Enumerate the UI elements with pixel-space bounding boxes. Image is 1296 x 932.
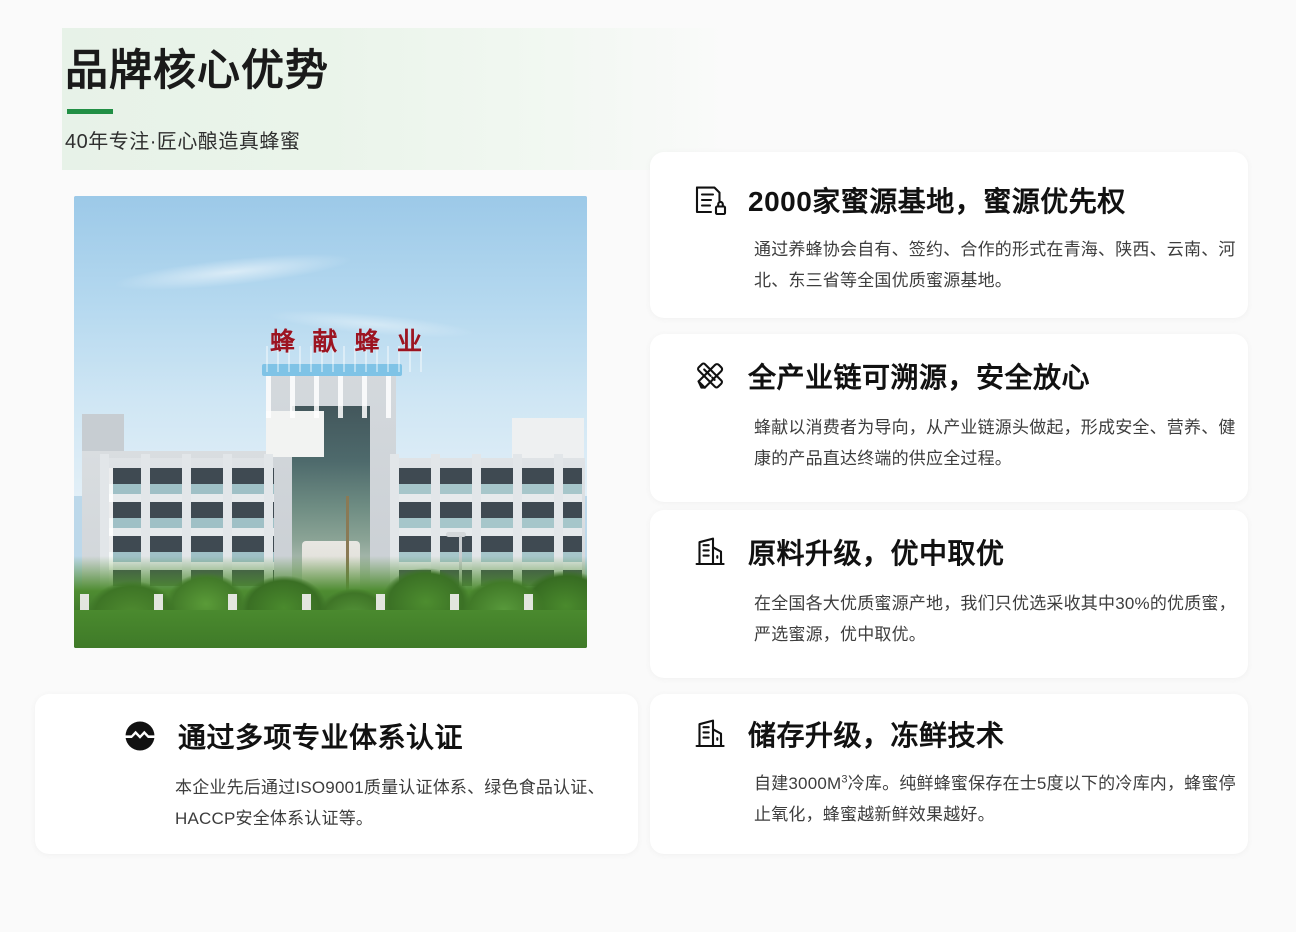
photo-roof-sign: 蜂 献 蜂 业 [270,322,422,358]
photo-ground [74,610,587,648]
pencil-ruler-icon [690,356,730,396]
photo-roof-posts [266,376,398,418]
photo-building-left-top [82,414,124,456]
card-header: 储存升级，冻鲜技术 [650,694,1248,754]
photo-street-lamp-head [446,532,466,537]
page-subtitle: 40年专注·匠心酿造真蜂蜜 [65,125,329,154]
building-icon [690,532,730,572]
advantage-card-traceability[interactable]: 全产业链可溯源，安全放心 蜂献以消费者为导向，从产业链源头做起，形成安全、营养、… [650,334,1248,502]
advantage-card-honey-source[interactable]: 2000家蜜源基地，蜜源优先权 通过养蜂协会自有、签约、合作的形式在青海、陕西、… [650,152,1248,318]
roof-sign-char: 业 [397,322,422,358]
advantage-card-raw-material[interactable]: 原料升级，优中取优 在全国各大优质蜜源产地，我们只优选采收其中30%的优质蜜，严… [650,510,1248,678]
document-lock-icon [690,180,730,220]
building-icon [690,714,730,754]
card-header: 2000家蜜源基地，蜜源优先权 [650,152,1248,220]
roof-sign-char: 蜂 [270,322,295,358]
roof-sign-char: 蜂 [355,322,380,358]
section-header: 品牌核心优势 40年专注·匠心酿造真蜂蜜 [62,28,1252,170]
certified-badge-icon [120,716,160,756]
advantage-card-storage[interactable]: 储存升级，冻鲜技术 自建3000M3冷库。纯鲜蜂蜜保存在士5度以下的冷库内，蜂蜜… [650,694,1248,854]
roof-sign-char: 献 [312,322,337,358]
card-title: 储存升级，冻鲜技术 [748,714,1005,754]
card-body-text: 蜂献以消费者为导向，从产业链源头做起，形成安全、营养、健康的产品直达终端的供应全… [650,396,1248,474]
card-body-text: 通过养蜂协会自有、签约、合作的形式在青海、陕西、云南、河北、东三省等全国优质蜜源… [650,220,1248,296]
company-building-photo: 蜂 献 蜂 业 [74,196,587,648]
page-title: 品牌核心优势 [65,48,329,95]
brand-advantages-page: 品牌核心优势 40年专注·匠心酿造真蜂蜜 蜂 献 蜂 [0,0,1296,932]
card-header: 全产业链可溯源，安全放心 [650,334,1248,396]
title-accent-rule [67,109,113,114]
photo-canvas: 蜂 献 蜂 业 [74,196,587,648]
card-body-text: 在全国各大优质蜜源产地，我们只优选采收其中30%的优质蜜，严选蜜源，优中取优。 [650,572,1248,650]
advantage-card-certification[interactable]: 通过多项专业体系认证 本企业先后通过ISO9001质量认证体系、绿色食品认证、H… [35,694,638,854]
card-title: 原料升级，优中取优 [748,532,1005,572]
card-title: 全产业链可溯源，安全放心 [748,356,1090,396]
header-inner: 品牌核心优势 40年专注·匠心酿造真蜂蜜 [62,28,329,154]
card-header: 通过多项专业体系认证 [35,694,638,756]
card-header: 原料升级，优中取优 [650,510,1248,572]
card-body-text: 本企业先后通过ISO9001质量认证体系、绿色食品认证、HACCP安全体系认证等… [35,756,638,834]
card-body-text: 自建3000M3冷库。纯鲜蜂蜜保存在士5度以下的冷库内，蜂蜜停止氧化，蜂蜜越新鲜… [650,754,1248,830]
card-body-pre: 自建3000M [754,774,841,793]
card-title: 2000家蜜源基地，蜜源优先权 [748,180,1126,220]
card-title: 通过多项专业体系认证 [178,716,463,756]
